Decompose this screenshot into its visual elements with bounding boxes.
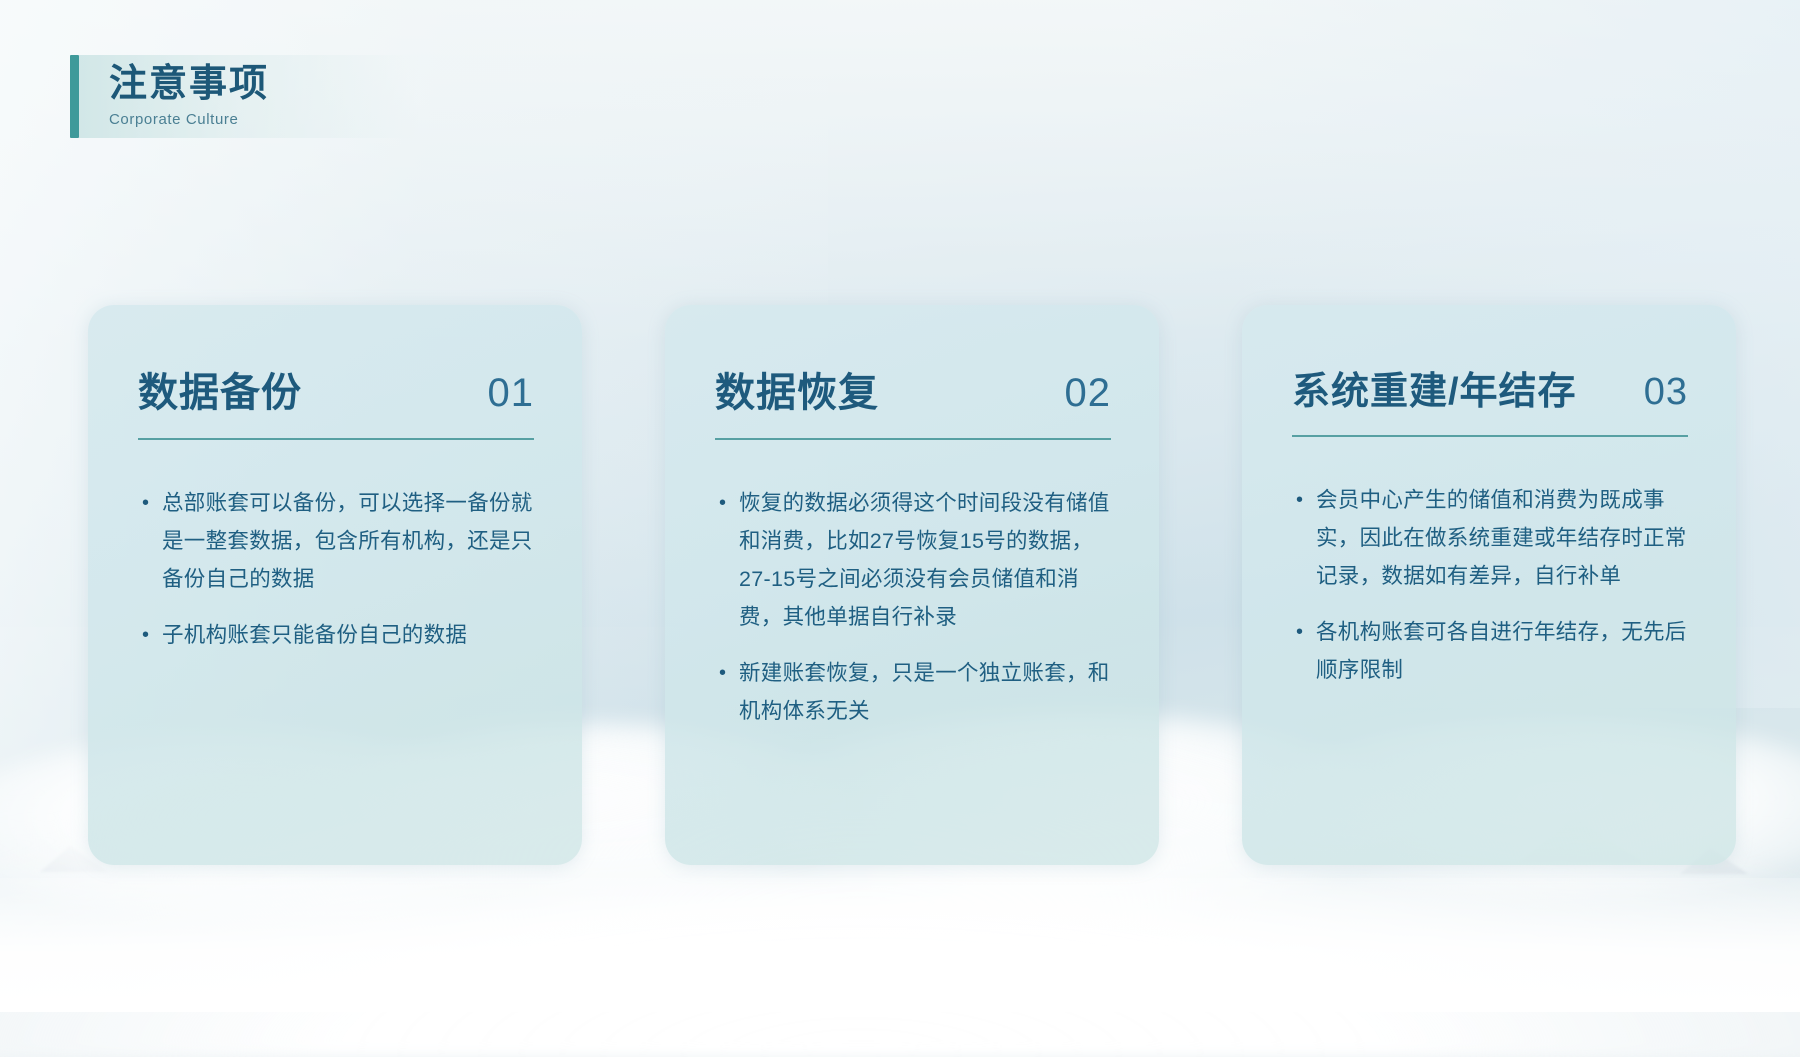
card-title: 数据恢复 [715, 360, 879, 418]
list-item: • 子机构账套只能备份自己的数据 [136, 616, 540, 654]
card-header: 数据备份 01 [130, 360, 540, 418]
bullet-dot-icon: • [136, 616, 162, 654]
header-accent-bar [70, 55, 79, 138]
cards-row: 数据备份 01 • 总部账套可以备份，可以选择一备份就是一整套数据，包含所有机构… [88, 305, 1736, 865]
list-item: • 总部账套可以备份，可以选择一备份就是一整套数据，包含所有机构，还是只备份自己… [136, 484, 540, 598]
card-number: 01 [488, 371, 535, 416]
card-data-restore[interactable]: 数据恢复 02 • 恢复的数据必须得这个时间段没有储值和消费，比如27号恢复15… [665, 305, 1159, 865]
bullet-text: 子机构账套只能备份自己的数据 [162, 616, 540, 654]
card-divider [138, 438, 534, 440]
card-bullet-list: • 恢复的数据必须得这个时间段没有储值和消费，比如27号恢复15号的数据，27-… [707, 484, 1117, 730]
cloud-band [0, 878, 1800, 1012]
card-title: 数据备份 [138, 360, 302, 418]
bullet-dot-icon: • [1290, 481, 1316, 595]
card-bullet-list: • 会员中心产生的储值和消费为既成事实，因此在做系统重建或年结存时正常记录，数据… [1284, 481, 1694, 689]
card-header: 系统重建/年结存 03 [1284, 360, 1694, 415]
slide-header: 注意事项 Corporate Culture [70, 55, 419, 138]
list-item: • 恢复的数据必须得这个时间段没有储值和消费，比如27号恢复15号的数据，27-… [713, 484, 1117, 636]
bullet-text: 会员中心产生的储值和消费为既成事实，因此在做系统重建或年结存时正常记录，数据如有… [1316, 481, 1694, 595]
card-number: 03 [1644, 371, 1688, 414]
card-divider [1292, 435, 1688, 437]
card-bullet-list: • 总部账套可以备份，可以选择一备份就是一整套数据，包含所有机构，还是只备份自己… [130, 484, 540, 654]
card-system-rebuild[interactable]: 系统重建/年结存 03 • 会员中心产生的储值和消费为既成事实，因此在做系统重建… [1242, 305, 1736, 865]
card-header: 数据恢复 02 [707, 360, 1117, 418]
page-title: 注意事项 [109, 61, 269, 109]
bullet-text: 新建账套恢复，只是一个独立账套，和机构体系无关 [739, 654, 1117, 730]
bullet-dot-icon: • [1290, 613, 1316, 689]
card-number: 02 [1065, 371, 1112, 416]
list-item: • 新建账套恢复，只是一个独立账套，和机构体系无关 [713, 654, 1117, 730]
card-data-backup[interactable]: 数据备份 01 • 总部账套可以备份，可以选择一备份就是一整套数据，包含所有机构… [88, 305, 582, 865]
bullet-dot-icon: • [713, 654, 739, 730]
card-divider [715, 438, 1111, 440]
bullet-dot-icon: • [713, 484, 739, 636]
bullet-dot-icon: • [136, 484, 162, 598]
page-subtitle: Corporate Culture [109, 111, 269, 128]
list-item: • 会员中心产生的储值和消费为既成事实，因此在做系统重建或年结存时正常记录，数据… [1290, 481, 1694, 595]
card-title: 系统重建/年结存 [1292, 360, 1577, 415]
bullet-text: 各机构账套可各自进行年结存，无先后顺序限制 [1316, 613, 1694, 689]
list-item: • 各机构账套可各自进行年结存，无先后顺序限制 [1290, 613, 1694, 689]
header-plate: 注意事项 Corporate Culture [79, 55, 419, 138]
bullet-text: 总部账套可以备份，可以选择一备份就是一整套数据，包含所有机构，还是只备份自己的数… [162, 484, 540, 598]
bullet-text: 恢复的数据必须得这个时间段没有储值和消费，比如27号恢复15号的数据，27-15… [739, 484, 1117, 636]
